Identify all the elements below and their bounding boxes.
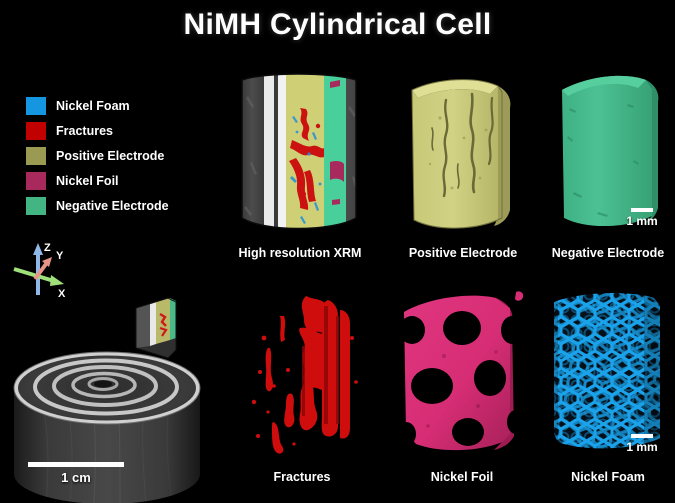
- legend-swatch-nickel-foil: [26, 172, 46, 190]
- legend-label-nickel-foil: Nickel Foil: [56, 174, 119, 188]
- panel-label-nickel-foil: Nickel Foil: [392, 470, 532, 484]
- scale-bar-line: [631, 434, 653, 438]
- panel-label-nickel-foam: Nickel Foam: [538, 470, 675, 484]
- axis-y-label: Y: [56, 250, 64, 262]
- panel-label-positive-electrode: Positive Electrode: [388, 246, 538, 260]
- nickel-foam-render: [544, 288, 672, 456]
- negative-electrode-scale-bar: 1 mm: [618, 208, 666, 228]
- legend-item-nickel-foam: Nickel Foam: [26, 93, 169, 118]
- legend-item-nickel-foil: Nickel Foil: [26, 168, 169, 193]
- scale-bar-line: [631, 208, 653, 212]
- legend: Nickel Foam Fractures Positive Electrode…: [26, 93, 169, 218]
- legend-item-positive-electrode: Positive Electrode: [26, 143, 169, 168]
- scale-bar-line: [28, 462, 124, 467]
- positive-electrode-render: [402, 68, 528, 238]
- legend-item-fractures: Fractures: [26, 118, 169, 143]
- axis-z-label: Z: [44, 242, 51, 254]
- high-resolution-xrm-render: [234, 66, 366, 238]
- legend-swatch-negative-electrode: [26, 197, 46, 215]
- page-title: NiMH Cylindrical Cell: [0, 8, 675, 42]
- fractures-render: [240, 286, 370, 458]
- panel-label-negative-electrode: Negative Electrode: [533, 246, 675, 260]
- legend-label-negative-electrode: Negative Electrode: [56, 199, 169, 213]
- nickel-foil-render: [398, 286, 530, 458]
- extracted-sample-inset: [136, 298, 176, 358]
- legend-label-fractures: Fractures: [56, 124, 113, 138]
- legend-swatch-nickel-foam: [26, 97, 46, 115]
- figure-canvas: NiMH Cylindrical Cell Nickel Foam Fractu…: [0, 0, 675, 503]
- legend-swatch-positive-electrode: [26, 147, 46, 165]
- legend-swatch-fractures: [26, 122, 46, 140]
- panel-label-fractures: Fractures: [232, 470, 372, 484]
- legend-item-negative-electrode: Negative Electrode: [26, 193, 169, 218]
- scale-bar-label: 1 cm: [28, 470, 124, 485]
- scale-bar-label: 1 mm: [618, 214, 666, 228]
- legend-label-positive-electrode: Positive Electrode: [56, 149, 164, 163]
- nickel-foam-scale-bar: 1 mm: [618, 434, 666, 454]
- overview-scale-bar: 1 cm: [28, 462, 124, 485]
- panel-label-high-resolution-xrm: High resolution XRM: [222, 246, 378, 260]
- scale-bar-label: 1 mm: [618, 440, 666, 454]
- legend-label-nickel-foam: Nickel Foam: [56, 99, 130, 113]
